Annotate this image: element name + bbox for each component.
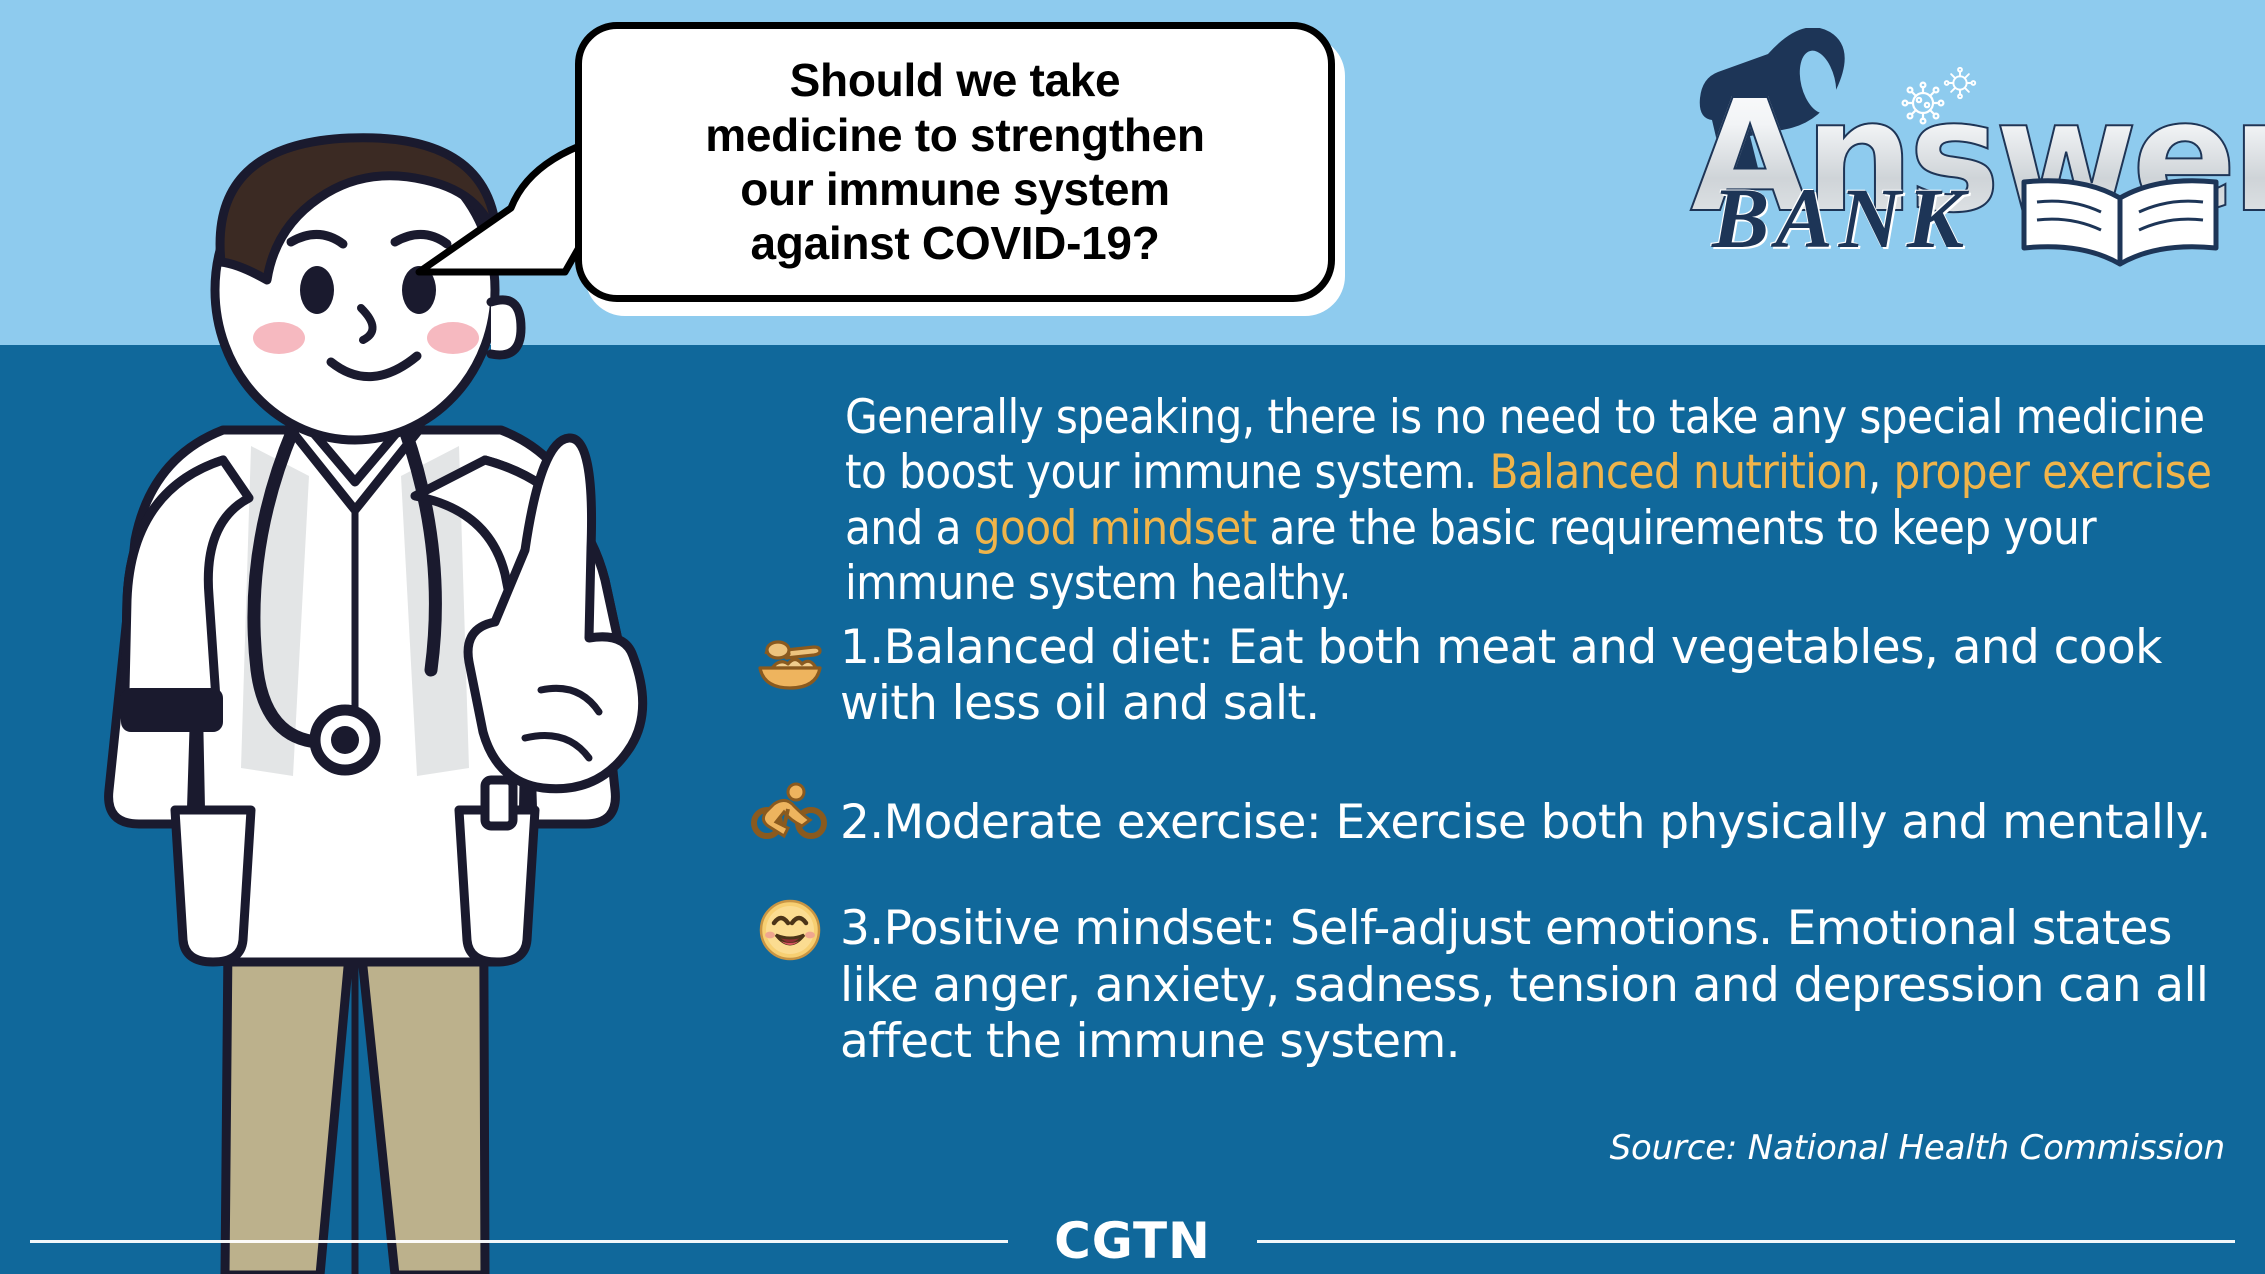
advice-list: 1.Balanced diet: Eat both meat and veget… [740,620,2240,1110]
list-item: 1.Balanced diet: Eat both meat and veget… [740,620,2240,733]
cyclist-icon [740,773,840,841]
speech-bubble-body: Should we takemedicine to strengthenour … [575,22,1335,302]
list-item-text: 2.Moderate exercise: Exercise both physi… [840,773,2211,851]
smiling-face-icon [740,891,840,963]
intro-highlight: good mindset [974,501,1257,556]
open-book-icon [2015,168,2225,278]
intro-text: , [1868,445,1894,500]
intro-highlight: proper exercise [1894,445,2212,500]
answer-bank-logo: Answer BANK [1660,18,2240,338]
footer-bar: CGTN [0,1208,2265,1274]
speech-bubble-text: Should we takemedicine to strengthenour … [681,53,1228,270]
list-item: 3.Positive mindset: Self-adjust emotions… [740,891,2240,1070]
bowl-with-spoon-icon [740,620,840,692]
cgtn-logo: CGTN [1008,1212,1257,1270]
source-attribution: Source: National Health Commission [1610,1128,2225,1168]
intro-paragraph: Generally speaking, there is no need to … [845,390,2235,612]
list-item: 2.Moderate exercise: Exercise both physi… [740,773,2240,851]
footer-divider-left [30,1240,1008,1243]
list-item-text: 1.Balanced diet: Eat both meat and veget… [840,620,2240,733]
intro-text: and a [845,501,974,556]
footer-divider-right [1257,1240,2235,1243]
speech-bubble: Should we takemedicine to strengthenour … [575,22,1485,332]
intro-highlight: Balanced nutrition [1489,445,1867,500]
infographic-canvas: Should we takemedicine to strengthenour … [0,0,2265,1274]
logo-word-bank: BANK [1712,168,1970,268]
list-item-text: 3.Positive mindset: Self-adjust emotions… [840,891,2240,1070]
